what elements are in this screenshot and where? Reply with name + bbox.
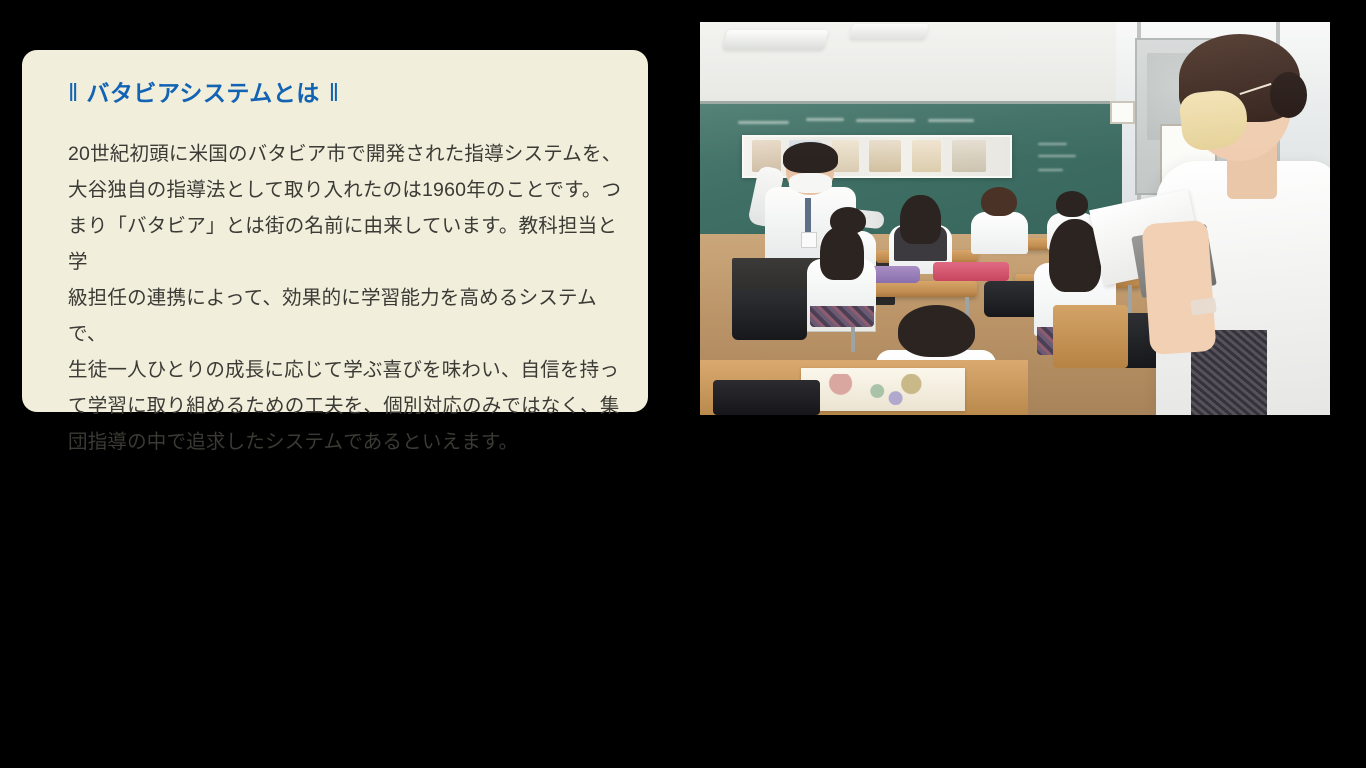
open-textbook xyxy=(801,368,965,411)
classroom-photo xyxy=(700,22,1330,415)
teacher-walking-aisle xyxy=(1091,30,1330,415)
student-head xyxy=(820,226,864,280)
body-line: て学習に取り組めるための工夫を、個別対応のみではなく、集 xyxy=(68,388,622,424)
student-head xyxy=(898,305,975,357)
chalk-writing xyxy=(1038,155,1076,157)
teacher-hair-bun xyxy=(1270,72,1308,118)
student-skirt xyxy=(810,306,874,327)
chalk-writing xyxy=(1038,143,1068,145)
chalk-writing xyxy=(738,121,789,124)
school-bag xyxy=(732,289,808,340)
banner-picture xyxy=(869,140,901,172)
body-line: 級担任の連携によって、効果的に学習能力を高めるシステムで、 xyxy=(68,280,622,352)
chalk-writing xyxy=(856,119,915,122)
card-title: ‖ バタビアシステムとは ‖ xyxy=(68,80,622,108)
pink-bag xyxy=(933,262,1009,282)
banner-picture xyxy=(912,140,941,172)
body-line: 大谷独自の指導法として取り入れたのは1960年のことです。つ xyxy=(68,172,622,208)
teacher-hair xyxy=(783,142,838,173)
pencil-case xyxy=(713,380,820,415)
student xyxy=(807,226,876,312)
banner-picture xyxy=(952,140,987,172)
student xyxy=(971,187,1028,254)
teacher-arm xyxy=(1142,220,1216,355)
body-line: まり「バタビア」とは街の名前に由来しています。教科担当と学 xyxy=(68,208,622,280)
batavia-system-info-card: ‖ バタビアシステムとは ‖ 20世紀初頭に米国のバタビア市で開発された指導シス… xyxy=(22,50,648,412)
student-head xyxy=(981,187,1017,216)
photo-scene xyxy=(700,22,1330,415)
face-mask-icon xyxy=(789,173,832,193)
student-head xyxy=(900,195,940,244)
body-line: 生徒一人ひとりの成長に応じて学ぶ喜びを味わい、自信を持っ xyxy=(68,352,622,388)
student-torso xyxy=(971,212,1028,253)
student-head xyxy=(1056,191,1088,217)
body-line: 20世紀初頭に米国のバタビア市で開発された指導システムを、 xyxy=(68,136,622,172)
title-rule-left-icon: ‖ xyxy=(68,81,77,106)
chalk-writing xyxy=(806,118,844,121)
ceiling-light-icon xyxy=(849,24,929,40)
ceiling-light-icon xyxy=(723,30,829,50)
chalk-writing xyxy=(1038,169,1063,171)
card-body: 20世紀初頭に米国のバタビア市で開発された指導システムを、 大谷独自の指導法とし… xyxy=(68,136,622,460)
chalk-writing xyxy=(928,119,974,122)
page-title: バタビアシステムとは xyxy=(86,80,319,108)
title-rule-right-icon: ‖ xyxy=(329,81,338,106)
page-root: ‖ バタビアシステムとは ‖ 20世紀初頭に米国のバタビア市で開発された指導シス… xyxy=(0,0,1366,768)
body-line: 団指導の中で追求したシステムであるといえます。 xyxy=(68,424,622,460)
